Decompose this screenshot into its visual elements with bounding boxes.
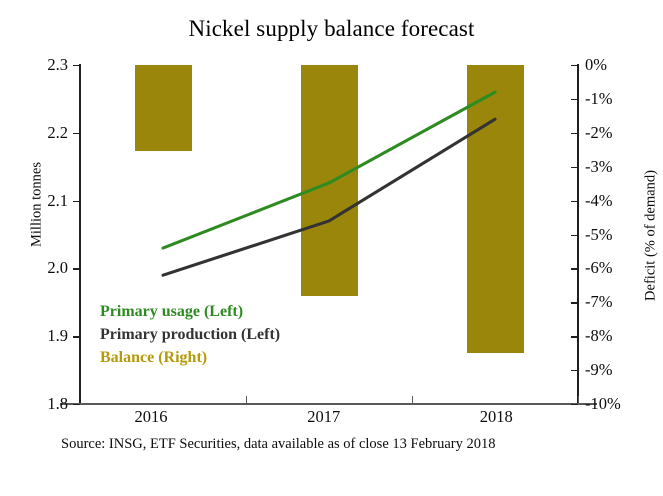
chart-container: Nickel supply balance forecast 2.32.22.1… [0,0,663,496]
right-axis-tick [571,404,578,405]
right-axis-tick [571,167,578,168]
right-axis-tick [571,235,578,236]
left-axis-tick [73,336,80,337]
bottom-axis-line [60,403,597,405]
right-axis-tick [571,370,578,371]
legend-item-balance: Balance (Right) [100,346,430,369]
right-axis-tick [571,201,578,202]
x-axis-tick-label: 2018 [456,409,536,426]
left-axis-tick-label: 1.8 [28,396,68,413]
right-axis-tick-label: -7% [585,294,631,311]
bar-balance-2018 [467,65,524,353]
right-axis-tick [571,133,578,134]
bar-balance-2016 [135,65,192,151]
legend-item-primary-production: Primary production (Left) [100,323,430,346]
right-axis-tick [571,268,578,269]
chart-legend: Primary usage (Left) Primary production … [100,300,430,369]
right-axis-tick-label: -3% [585,159,631,176]
right-axis-tick [571,99,578,100]
right-axis-tick [571,336,578,337]
left-axis-tick-label: 2.3 [28,57,68,74]
x-axis-tick [412,396,413,405]
legend-label: Primary production (Left) [100,326,280,343]
x-axis-tick [246,396,247,405]
right-axis-tick [571,65,578,66]
right-axis-tick-label: -5% [585,227,631,244]
right-axis-tick-label: -10% [585,396,631,413]
left-axis-tick [73,201,80,202]
right-axis-tick [571,302,578,303]
source-note: Source: INSG, ETF Securities, data avail… [61,436,495,453]
left-axis-tick [73,133,80,134]
left-axis-title: Million tonnes [29,125,46,285]
x-axis-tick-label: 2017 [284,409,364,426]
left-axis-tick-label: 1.9 [28,328,68,345]
left-axis-tick [73,65,80,66]
left-axis-tick [73,404,80,405]
chart-title: Nickel supply balance forecast [0,16,663,42]
right-axis-tick-label: -2% [585,125,631,142]
right-axis-tick-label: -6% [585,260,631,277]
right-axis-title: Deficit (% of demand) [643,136,660,336]
right-axis-tick-label: -1% [585,91,631,108]
right-axis-tick-label: 0% [585,57,631,74]
x-axis-tick [578,396,579,405]
x-axis-tick-label: 2016 [111,409,191,426]
legend-label: Primary usage (Left) [100,303,243,320]
left-axis-line [79,64,81,405]
right-axis-tick-label: -9% [585,362,631,379]
bar-balance-2017 [301,65,358,296]
right-axis-tick-label: -4% [585,193,631,210]
right-axis-tick-label: -8% [585,328,631,345]
legend-item-primary-usage: Primary usage (Left) [100,300,430,323]
legend-label: Balance (Right) [100,349,207,366]
left-axis-tick [73,268,80,269]
